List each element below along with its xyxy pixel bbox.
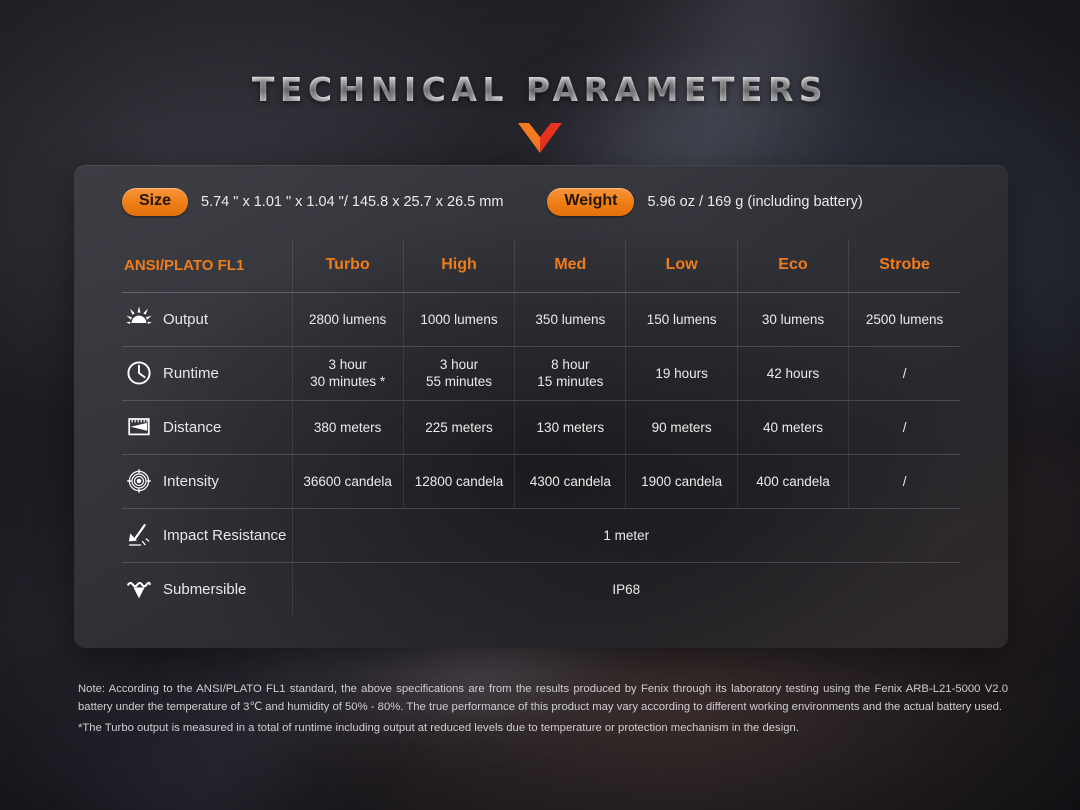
cell-intensity-low: 1900 candela — [626, 454, 737, 508]
row-label-text: Distance — [163, 419, 221, 436]
table-row: Impact Resistance 1 meter — [122, 508, 960, 562]
header-strobe: Strobe — [849, 239, 960, 292]
cell-runtime-low: 19 hours — [626, 346, 737, 400]
weight-spec: Weight 5.96 oz / 169 g (including batter… — [547, 188, 862, 215]
table-row: Intensity 36600 candela 12800 candela 43… — [122, 454, 960, 508]
header-low: Low — [626, 239, 737, 292]
cell-runtime-strobe: / — [849, 346, 960, 400]
cell-submersible-value: IP68 — [292, 562, 960, 616]
row-label-distance: Distance — [122, 400, 292, 454]
row-label-output: Output — [122, 292, 292, 346]
impact-icon — [126, 522, 152, 548]
row-label-text: Runtime — [163, 365, 219, 382]
header-eco: Eco — [737, 239, 848, 292]
header-high: High — [403, 239, 514, 292]
footnote-block: Note: According to the ANSI/PLATO FL1 st… — [78, 680, 1008, 737]
cell-output-turbo: 2800 lumens — [292, 292, 403, 346]
row-label-runtime: Runtime — [122, 346, 292, 400]
cell-intensity-eco: 400 candela — [737, 454, 848, 508]
row-label-intensity: Intensity — [122, 454, 292, 508]
cell-output-eco: 30 lumens — [737, 292, 848, 346]
water-drop-icon — [126, 576, 152, 602]
cell-output-strobe: 2500 lumens — [849, 292, 960, 346]
cell-distance-strobe: / — [849, 400, 960, 454]
cell-runtime-high: 3 hour55 minutes — [403, 346, 514, 400]
row-label-text: Submersible — [163, 581, 246, 598]
header-turbo: Turbo — [292, 239, 403, 292]
footnote-paragraph-1: Note: According to the ANSI/PLATO FL1 st… — [78, 680, 1008, 717]
cell-intensity-strobe: / — [849, 454, 960, 508]
beam-distance-icon — [126, 414, 152, 440]
size-value: 5.74 " x 1.01 " x 1.04 "/ 145.8 x 25.7 x… — [201, 194, 503, 210]
cell-output-low: 150 lumens — [626, 292, 737, 346]
chevron-down-icon — [518, 123, 562, 153]
sunburst-icon — [126, 306, 152, 332]
dimension-spec-bar: Size 5.74 " x 1.01 " x 1.04 "/ 145.8 x 2… — [122, 165, 960, 239]
cell-runtime-eco: 42 hours — [737, 346, 848, 400]
specs-panel: Size 5.74 " x 1.01 " x 1.04 "/ 145.8 x 2… — [74, 165, 1008, 648]
cell-output-med: 350 lumens — [515, 292, 626, 346]
row-label-impact-resistance: Impact Resistance — [122, 508, 292, 562]
size-spec: Size 5.74 " x 1.01 " x 1.04 "/ 145.8 x 2… — [122, 188, 503, 215]
cell-intensity-turbo: 36600 candela — [292, 454, 403, 508]
target-icon — [126, 468, 152, 494]
header-ansi-plato-fl1: ANSI/PLATO FL1 — [122, 239, 292, 292]
row-label-submersible: Submersible — [122, 562, 292, 616]
row-label-text: Intensity — [163, 473, 219, 490]
footnote-paragraph-2: *The Turbo output is measured in a total… — [78, 719, 1008, 737]
cell-impact-resistance-value: 1 meter — [292, 508, 960, 562]
table-row: Runtime 3 hour30 minutes * 3 hour55 minu… — [122, 346, 960, 400]
cell-distance-turbo: 380 meters — [292, 400, 403, 454]
cell-distance-low: 90 meters — [626, 400, 737, 454]
size-pill-label: Size — [122, 188, 188, 215]
table-header-row: ANSI/PLATO FL1 Turbo High Med Low Eco St… — [122, 239, 960, 292]
cell-runtime-turbo: 3 hour30 minutes * — [292, 346, 403, 400]
table-row: Submersible IP68 — [122, 562, 960, 616]
header-med: Med — [515, 239, 626, 292]
row-label-text: Output — [163, 311, 208, 328]
cell-output-high: 1000 lumens — [403, 292, 514, 346]
table-row: Output 2800 lumens 1000 lumens 350 lumen… — [122, 292, 960, 346]
title-block: TECHNICAL PARAMETERS — [0, 70, 1080, 153]
weight-pill-label: Weight — [547, 188, 634, 215]
weight-value: 5.96 oz / 169 g (including battery) — [647, 194, 862, 210]
cell-distance-med: 130 meters — [515, 400, 626, 454]
page-title: TECHNICAL PARAMETERS — [0, 70, 1080, 109]
table-row: Distance 380 meters 225 meters 130 meter… — [122, 400, 960, 454]
clock-icon — [126, 360, 152, 386]
cell-intensity-high: 12800 candela — [403, 454, 514, 508]
row-label-text: Impact Resistance — [163, 527, 286, 544]
cell-intensity-med: 4300 candela — [515, 454, 626, 508]
cell-runtime-med: 8 hour15 minutes — [515, 346, 626, 400]
technical-parameters-table: ANSI/PLATO FL1 Turbo High Med Low Eco St… — [122, 239, 960, 616]
cell-distance-eco: 40 meters — [737, 400, 848, 454]
cell-distance-high: 225 meters — [403, 400, 514, 454]
